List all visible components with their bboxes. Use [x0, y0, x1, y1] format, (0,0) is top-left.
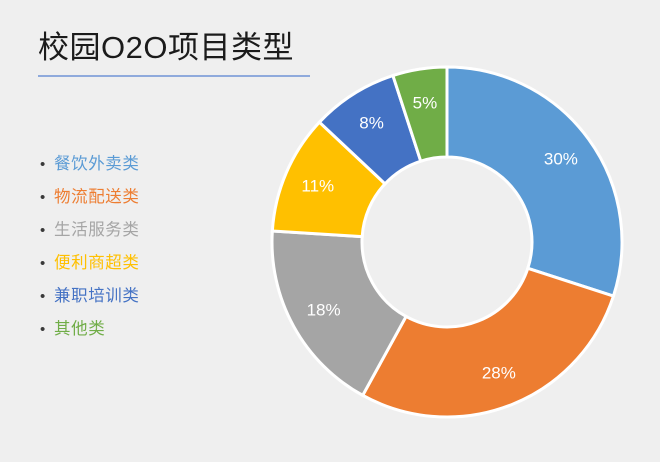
legend-item[interactable]: •餐饮外卖类	[40, 150, 255, 183]
donut-slice-value-label: 11%	[301, 177, 334, 196]
bullet-icon: •	[40, 157, 54, 172]
bullet-icon: •	[40, 322, 54, 337]
donut-slice[interactable]	[363, 268, 614, 417]
donut-slice-value-label: 30%	[544, 150, 578, 169]
legend: •餐饮外卖类•物流配送类•生活服务类•便利商超类•兼职培训类•其他类	[40, 150, 255, 348]
legend-item[interactable]: •便利商超类	[40, 249, 255, 282]
legend-item[interactable]: •物流配送类	[40, 183, 255, 216]
legend-item-label: 其他类	[54, 315, 105, 339]
donut-chart: 30%28%18%11%8%5%	[262, 57, 632, 427]
donut-chart-svg: 30%28%18%11%8%5%	[262, 57, 632, 427]
bullet-icon: •	[40, 190, 54, 205]
donut-slice-value-label: 5%	[413, 93, 438, 112]
donut-slice-value-label: 28%	[482, 363, 516, 382]
legend-item-label: 生活服务类	[54, 216, 140, 240]
legend-item-label: 兼职培训类	[54, 282, 140, 306]
legend-item[interactable]: •其他类	[40, 315, 255, 348]
legend-item[interactable]: •兼职培训类	[40, 282, 255, 315]
legend-item-label: 便利商超类	[54, 249, 140, 273]
donut-slice-value-label: 18%	[307, 300, 341, 319]
legend-item-label: 餐饮外卖类	[54, 150, 140, 174]
slide-canvas: 校园O2O项目类型 •餐饮外卖类•物流配送类•生活服务类•便利商超类•兼职培训类…	[0, 0, 660, 462]
legend-item[interactable]: •生活服务类	[40, 216, 255, 249]
bullet-icon: •	[40, 289, 54, 304]
bullet-icon: •	[40, 256, 54, 271]
donut-slice[interactable]	[447, 67, 622, 296]
bullet-icon: •	[40, 223, 54, 238]
legend-item-label: 物流配送类	[54, 183, 140, 207]
donut-slice-value-label: 8%	[359, 114, 384, 133]
